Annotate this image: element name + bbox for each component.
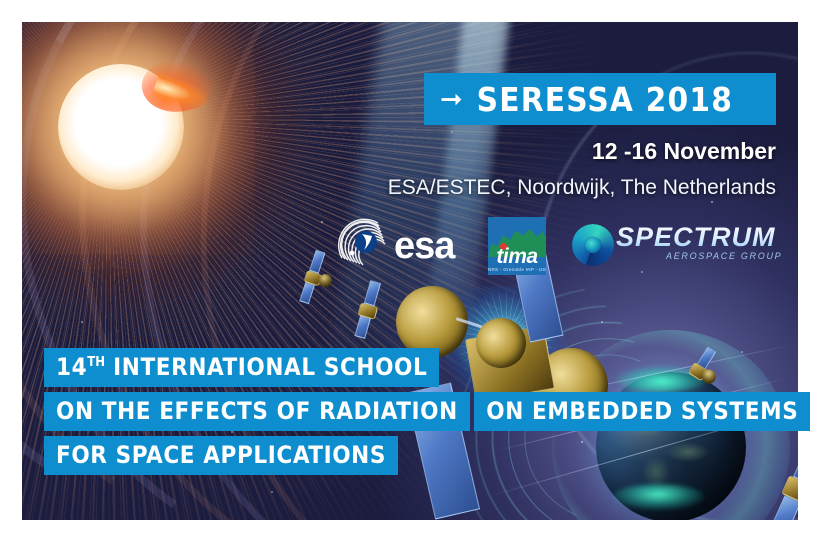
spectrum-swirl-core-icon [585, 237, 601, 253]
sponsor-logos: esa tima CNRS - Grenoble INP - UGA SPECT… [330, 216, 780, 278]
tima-wordmark: tima [496, 247, 537, 267]
tagline-ordinal-suffix: TH [87, 355, 105, 370]
tagline-block: 14TH INTERNATIONAL SCHOOL ON THE EFFECTS… [44, 348, 820, 480]
arrow-right-icon: ➞ [440, 86, 463, 113]
title-banner: ➞ SERESSA 2018 [424, 73, 776, 125]
tagline-row-1: 14TH INTERNATIONAL SCHOOL [44, 348, 439, 387]
spectrum-subtitle: AEROSPACE GROUP [666, 251, 782, 261]
seressa-2018-poster: ➞ SERESSA 2018 12 -16 November ESA/ESTEC… [0, 0, 820, 541]
tagline-text: INTERNATIONAL SCHOOL [105, 353, 427, 381]
page-title: SERESSA 2018 [477, 80, 733, 119]
event-venue: ESA/ESTEC, Noordwijk, The Netherlands [388, 176, 776, 200]
spectrum-wordmark: SPECTRUM [616, 222, 776, 253]
tagline-row-2: ON THE EFFECTS OF RADIATION [44, 392, 470, 431]
spectrum-logo: SPECTRUM AEROSPACE GROUP [570, 220, 780, 272]
tagline-row-4: FOR SPACE APPLICATIONS [44, 436, 398, 475]
esa-logo: esa [338, 218, 474, 274]
aurora-south-icon [612, 484, 704, 510]
tagline-row-3: ON EMBEDDED SYSTEMS [474, 392, 810, 431]
esa-emblem-icon [338, 218, 390, 270]
esa-wordmark: esa [394, 224, 454, 268]
tima-logo: tima CNRS - Grenoble INP - UGA [488, 217, 546, 275]
tagline-ordinal: 14 [56, 353, 87, 381]
event-date: 12 -16 November [592, 138, 776, 165]
tima-subtitle: CNRS - Grenoble INP - UGA [488, 267, 546, 272]
